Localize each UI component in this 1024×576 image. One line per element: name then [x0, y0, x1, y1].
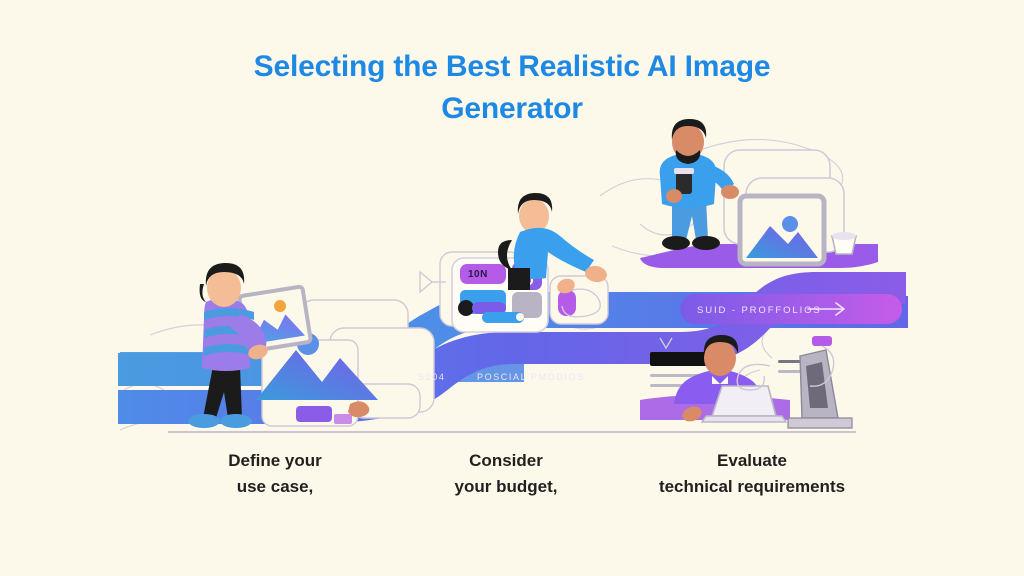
step-caption-2-line-1: Consider — [469, 451, 543, 470]
step-caption-1: Define your use case, — [175, 448, 375, 500]
coffee-cup-on-shelf — [832, 232, 856, 254]
step-caption-1-line-2: use case, — [175, 474, 375, 500]
cta-pill[interactable] — [680, 294, 902, 324]
step-caption-1-line-1: Define your — [228, 451, 322, 470]
step-caption-3-line-2: technical requirements — [625, 474, 879, 500]
scene-evaluate-technical-top — [660, 119, 856, 264]
step-caption-2-line-2: your budget, — [406, 474, 606, 500]
dashboard-badge-label: 10N — [468, 269, 488, 280]
image-placeholder-card — [740, 196, 824, 264]
scene-consider-budget — [420, 193, 608, 332]
step-caption-3: Evaluate technical requirements — [625, 448, 879, 500]
step-caption-2: Consider your budget, — [406, 448, 606, 500]
infographic-canvas: Selecting the Best Realistic AI Image Ge… — [0, 0, 1024, 576]
step-caption-3-line-1: Evaluate — [717, 451, 787, 470]
